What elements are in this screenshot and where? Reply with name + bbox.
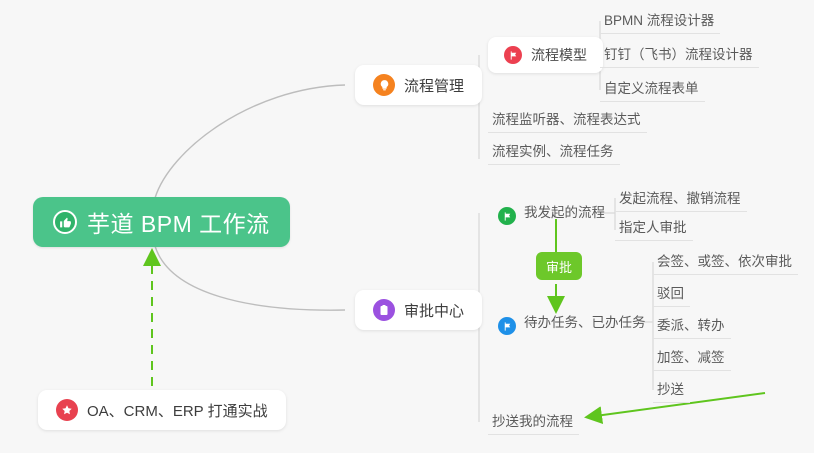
leaf-label: 委派、转办 [657,316,725,338]
branch-label: 审批中心 [404,300,464,321]
branch-approval-center[interactable]: 审批中心 [355,290,482,330]
node-process-model[interactable]: 流程模型 [488,37,603,73]
leaf-cc-to-me[interactable]: 抄送我的流程 [488,409,579,435]
branch-label: 流程管理 [404,75,464,96]
leaf-label: 会签、或签、依次审批 [657,252,792,274]
node-label: 我发起的流程 [524,203,605,225]
clipboard-icon [373,299,395,321]
leaf-label: 发起流程、撤销流程 [619,189,741,211]
tag-approval[interactable]: 审批 [536,252,582,280]
node-label: 流程模型 [531,45,587,65]
footer-card-integration[interactable]: OA、CRM、ERP 打通实战 [38,390,286,430]
leaf-label: BPMN 流程设计器 [604,11,714,33]
thumbs-up-icon [53,210,77,234]
leaf-label: 抄送我的流程 [492,412,573,434]
leaf-label: 流程监听器、流程表达式 [492,110,641,132]
root-node[interactable]: 芋道 BPM 工作流 [33,197,290,247]
leaf-listener-expression[interactable]: 流程监听器、流程表达式 [488,107,647,133]
tag-label: 审批 [546,257,572,276]
root-label: 芋道 BPM 工作流 [87,205,270,239]
leaf-label: 流程实例、流程任务 [492,142,614,164]
footer-card-label: OA、CRM、ERP 打通实战 [87,400,268,421]
star-icon [56,399,78,421]
flag-icon [498,317,516,335]
node-todo-done[interactable]: 待办任务、已办任务 [494,309,652,335]
leaf-add-remove-sign[interactable]: 加签、减签 [653,345,731,371]
leaf-countersign[interactable]: 会签、或签、依次审批 [653,249,798,275]
lightbulb-icon [373,74,395,96]
leaf-label: 抄送 [657,380,684,402]
leaf-label: 自定义流程表单 [604,79,699,101]
leaf-assignee-approval[interactable]: 指定人审批 [615,215,693,241]
leaf-reject[interactable]: 驳回 [653,281,690,307]
leaf-dingtalk-feishu-designer[interactable]: 钉钉（飞书）流程设计器 [600,42,759,68]
leaf-start-cancel[interactable]: 发起流程、撤销流程 [615,186,747,212]
node-label: 待办任务、已办任务 [524,313,646,335]
wire-root-to-approval-center [155,246,345,310]
leaf-label: 加签、减签 [657,348,725,370]
leaf-bpmn-designer[interactable]: BPMN 流程设计器 [600,8,720,34]
node-my-initiated[interactable]: 我发起的流程 [494,199,611,225]
flag-icon [498,207,516,225]
branch-process-management[interactable]: 流程管理 [355,65,482,105]
leaf-cc[interactable]: 抄送 [653,377,690,403]
mindmap-canvas: 芋道 BPM 工作流 流程管理 流程模型 BPMN 流程设计器 钉钉（飞书）流程… [0,0,814,453]
leaf-delegate-transfer[interactable]: 委派、转办 [653,313,731,339]
leaf-label: 钉钉（飞书）流程设计器 [604,45,753,67]
wire-root-to-process-management [155,85,345,198]
leaf-label: 指定人审批 [619,218,687,240]
leaf-label: 驳回 [657,284,684,306]
leaf-custom-process-form[interactable]: 自定义流程表单 [600,76,705,102]
flag-icon [504,46,522,64]
leaf-instance-task[interactable]: 流程实例、流程任务 [488,139,620,165]
